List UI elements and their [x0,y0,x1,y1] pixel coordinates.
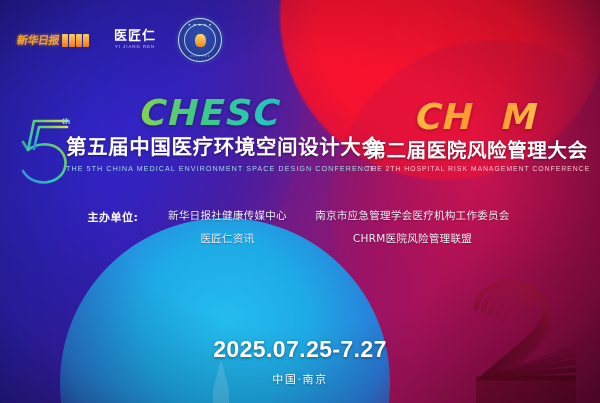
chesc-title-cn: 第五届中国医疗环境空间设计大会 [66,137,356,159]
xinhua-daily-logo-text: 新华日报 [16,32,60,48]
conference-poster: 新华日报 医匠仁 YI JIANG REN ★ ★ ★ ★ ★ • • • • … [0,0,600,403]
organizer-item: CHRM医院风险管理联盟 [353,231,472,246]
xinhua-daily-logo: 新华日报 [14,30,92,50]
emblem-arc-bottom-text: • • • • • • • [179,54,221,58]
chesc-title-en: THE 5TH CHINA MEDICAL ENVIRONMENT SPACE … [66,164,356,173]
organizers-section: 主办单位: 新华日报社健康传媒中心 医匠仁资讯 南京市应急管理学会医疗机构工作委… [0,208,600,246]
chrm-acronym-part1: CH [415,97,474,138]
emblem-inner-ring [184,24,216,56]
event-city: 中国·南京 [0,371,600,387]
event-date-section: 2025.07.25-7.27 中国·南京 [0,336,600,387]
yijiangren-logo-text: 医匠仁 [114,30,156,43]
chesc-acronym: CHESC [65,96,356,132]
yijiangren-logo: 医匠仁 YI JIANG REN [114,30,156,50]
chrm-title-en: THE 2TH HOSPITAL RISK MANAGEMENT CONFERE… [366,166,588,173]
yijiangren-logo-pinyin: YI JIANG REN [114,45,156,50]
chrm-title-cn: 第二届医院风险管理大会 [366,141,588,161]
organizers-column-two: 南京市应急管理学会医疗机构工作委员会 CHRM医院风险管理联盟 [312,208,512,246]
conference-block-chesc: CHESC 第五届中国医疗环境空间设计大会 THE 5TH CHINA MEDI… [66,96,356,173]
xinhua-logo-blocks-icon [62,34,89,47]
organizer-item: 新华日报社健康传媒中心 [168,208,287,223]
event-date: 2025.07.25-7.27 [0,336,600,363]
emblem-torch-icon [195,34,206,47]
organizers-label: 主办单位: [88,208,139,246]
chrm-acronym-part3: M [501,97,539,138]
organizers-inner: 主办单位: 新华日报社健康传媒中心 医匠仁资讯 南京市应急管理学会医疗机构工作委… [88,208,513,246]
organizer-item: 医匠仁资讯 [200,231,254,246]
association-emblem-logo: ★ ★ ★ ★ ★ • • • • • • • [178,18,222,62]
emblem-arc-top-text: ★ ★ ★ ★ ★ [179,23,221,27]
sponsor-logo-bar: 新华日报 医匠仁 YI JIANG REN ★ ★ ★ ★ ★ • • • • … [14,18,222,62]
organizer-item: 南京市应急管理学会医疗机构工作委员会 [315,208,509,223]
organizers-column-one: 新华日报社健康传媒中心 医匠仁资讯 [152,208,302,246]
chrm-acronym-mirrored-r: R [473,100,502,136]
magenta-glow-decoration [330,40,600,370]
conference-block-chrm: CHRM 第二届医院风险管理大会 THE 2TH HOSPITAL RISK M… [366,100,588,173]
chrm-acronym: CHRM [365,100,588,136]
